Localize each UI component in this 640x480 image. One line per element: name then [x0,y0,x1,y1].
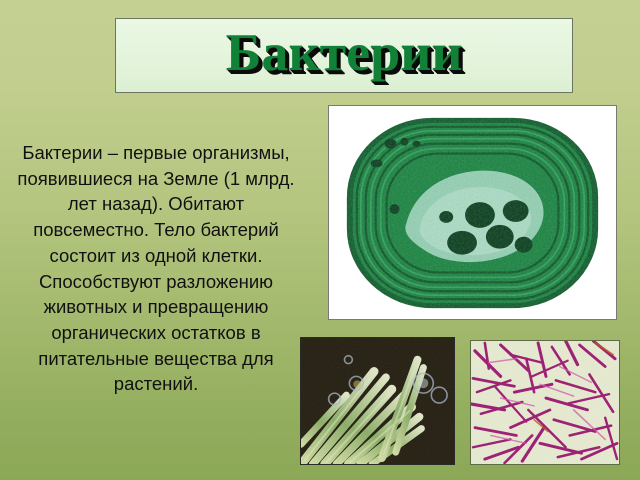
filamentous-bacteria-darkfield-frame [300,337,455,465]
gram-stained-rod-bacteria-frame [470,340,620,465]
bacteria-cell-micrograph-image [329,106,616,319]
slide-body-text: Бактерии – первые организмы, появившиеся… [16,140,296,397]
presentation-slide: Бактерии Бактерии – первые организмы, по… [0,0,640,480]
slide-title-box: Бактерии [115,18,573,93]
filamentous-bacteria-darkfield-image [301,338,454,464]
gram-stained-rod-bacteria-image [471,341,619,464]
bacteria-cell-micrograph-frame [328,105,617,320]
page-title: Бактерии [226,27,463,84]
